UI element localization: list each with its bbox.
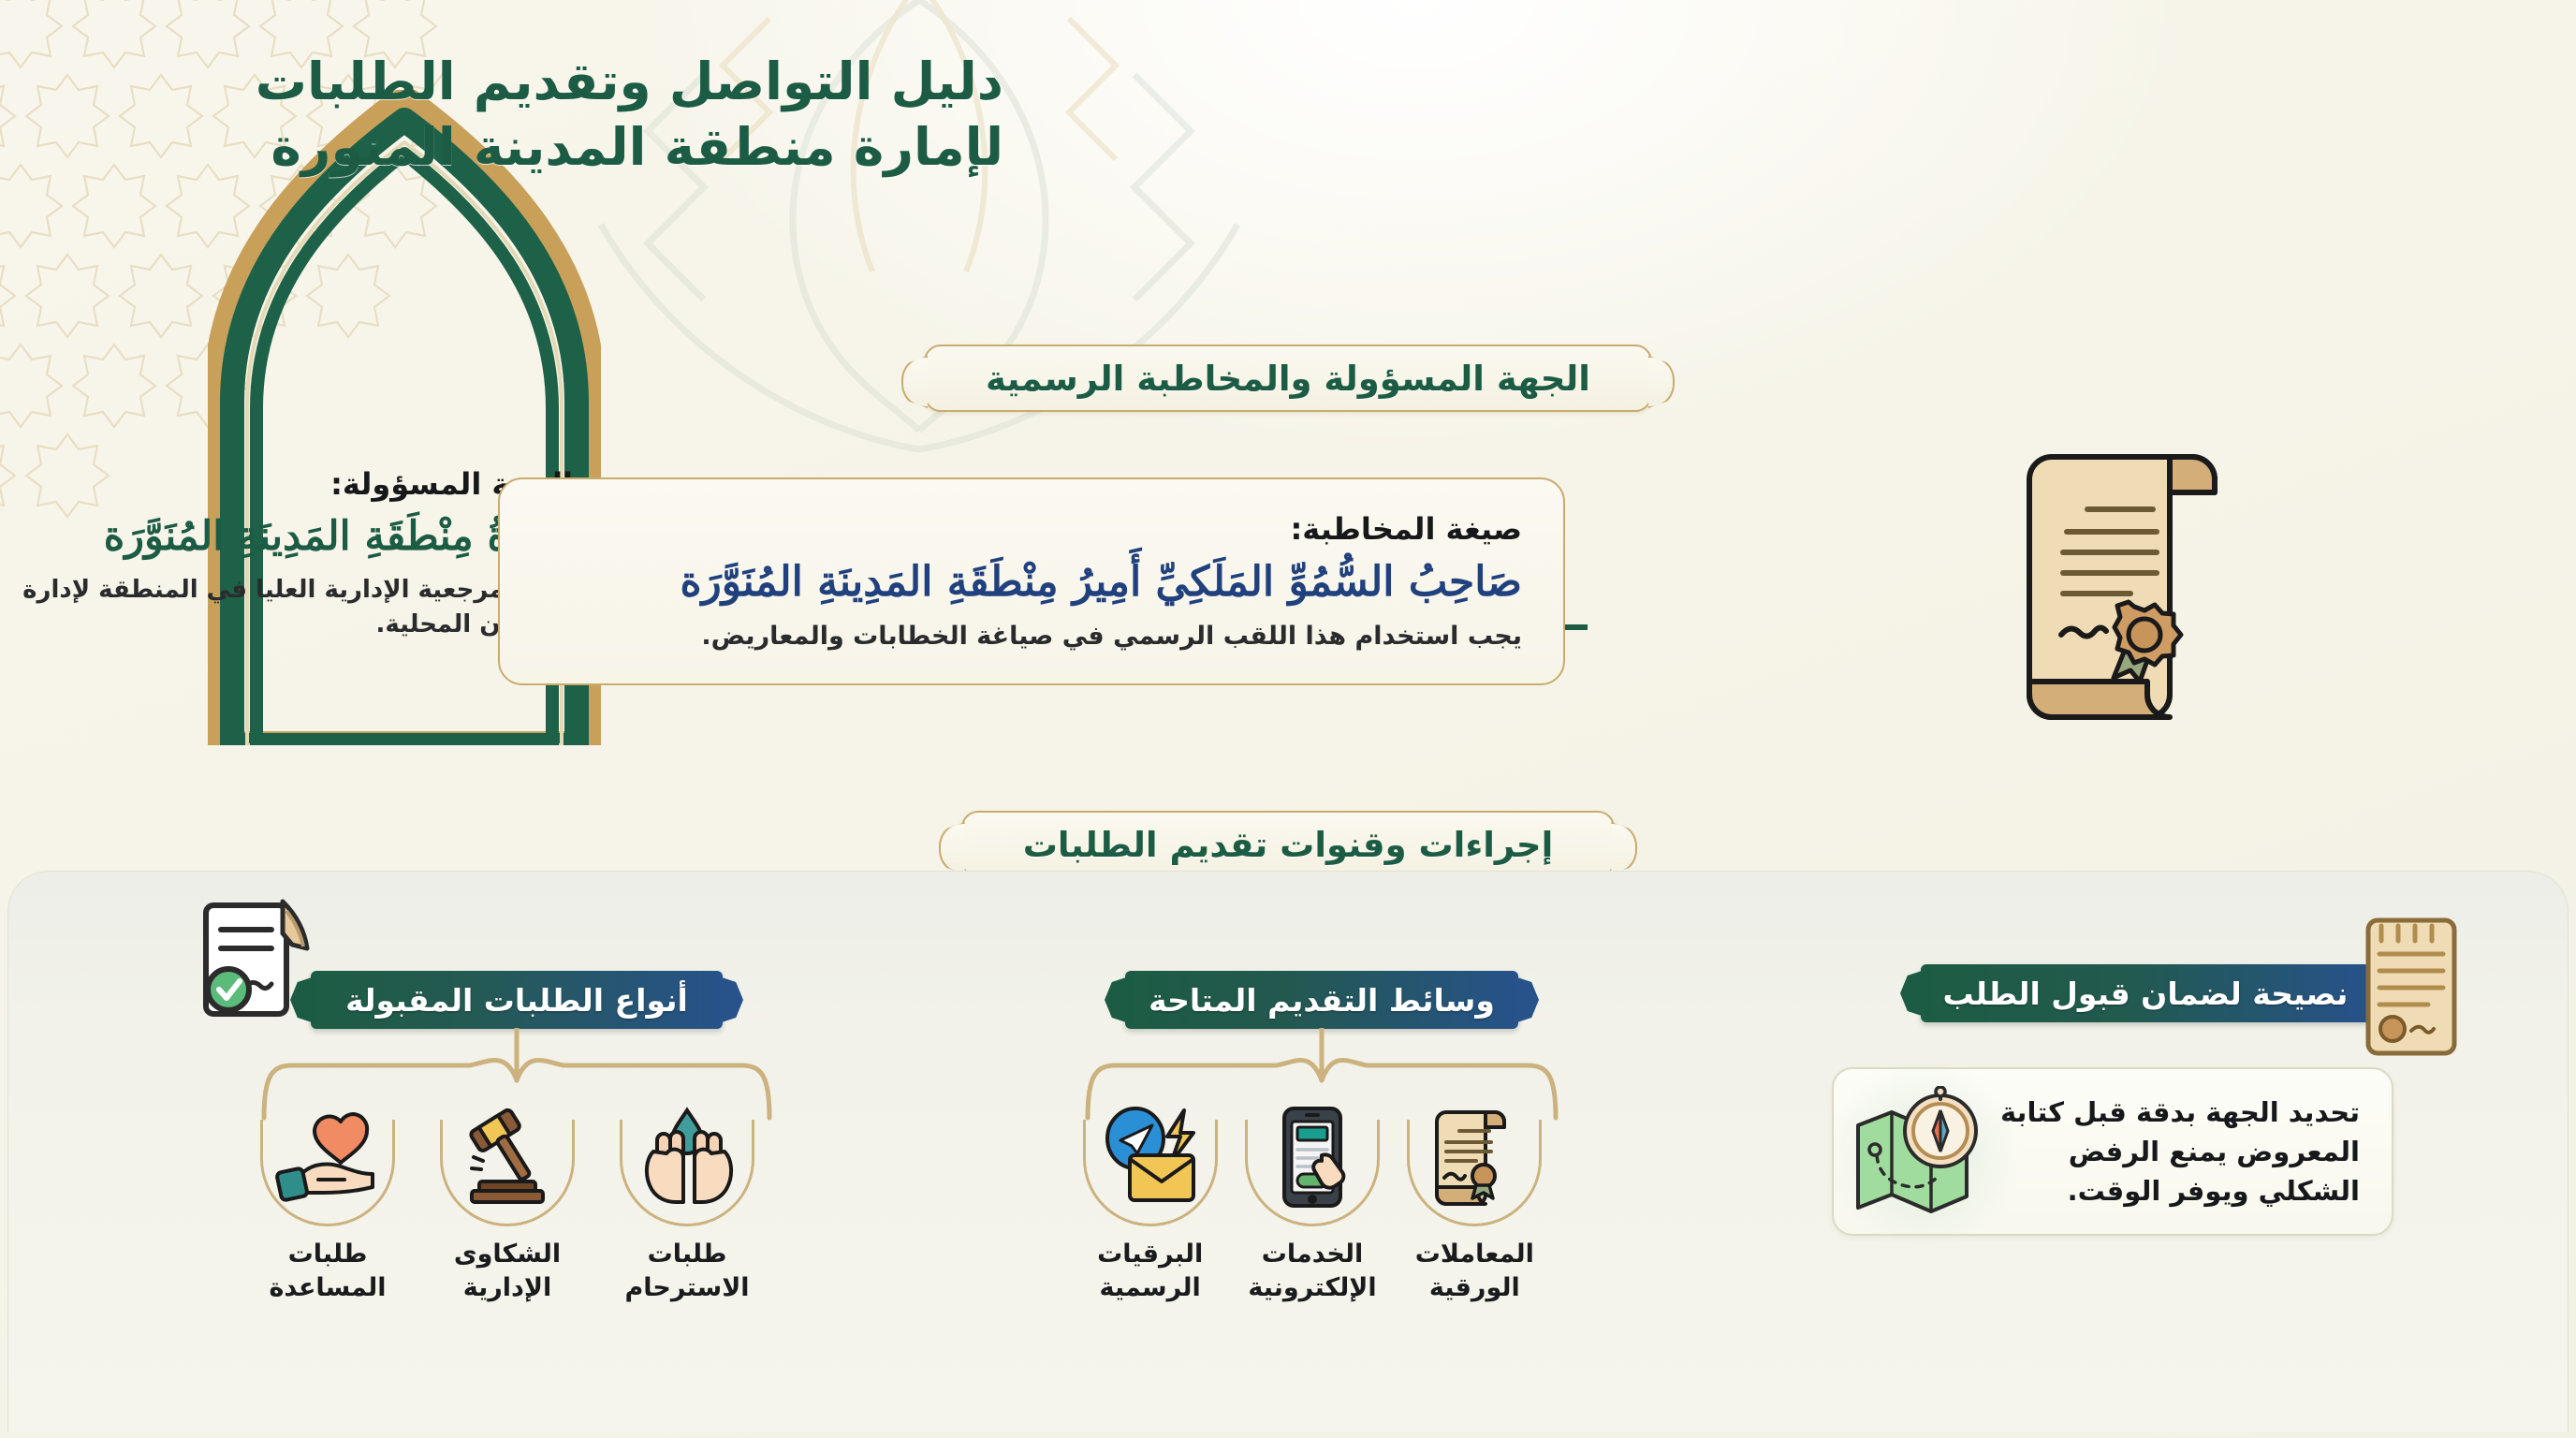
telegram-envelope-icon [1094, 1105, 1207, 1210]
gavel-icon [451, 1105, 563, 1210]
authority-card-label: الجهة المسؤولة: [0, 466, 573, 502]
channel-caption: البرقيات الرسمية [1069, 1238, 1231, 1304]
request-type-caption: الشكاوى الإدارية [425, 1238, 590, 1304]
channel-item: الخدمات الإلكترونية [1231, 1105, 1393, 1304]
banner-acceptance-tip[interactable]: نصيحة لضمان قبول الطلب [1921, 964, 2370, 1022]
address-format-card: صيغة المخاطبة: صَاحِبُ السُّمُوِّ المَلَ… [498, 477, 1565, 685]
icon-arc [253, 1105, 402, 1226]
section-1-heading-text: الجهة المسؤولة والمخاطبة الرسمية [986, 359, 1590, 399]
paper-document-icon [1418, 1105, 1530, 1210]
request-types-group: طلبات الاسترحام [245, 1105, 769, 1304]
banner-tip-label: نصيحة لضمان قبول الطلب [1943, 976, 2349, 1012]
section-header-procedures: إجراءات وقنوات تقديم الطلبات [0, 811, 2576, 878]
icon-arc [612, 1105, 762, 1226]
banner-channels-label: وسائط التقديم المتاحة [1149, 982, 1495, 1019]
address-card-label: صيغة المخاطبة: [541, 511, 1522, 547]
request-type-item: الشكاوى الإدارية [425, 1105, 590, 1304]
address-card-note: يجب استخدام هذا اللقب الرسمي في صياغة ال… [541, 619, 1522, 654]
request-type-caption: طلبات الاسترحام [605, 1238, 769, 1304]
smartphone-touch-icon [1256, 1105, 1368, 1210]
submission-channels-group: المعاملات الورقية [1069, 1105, 1556, 1304]
page-title: دليل التواصل وتقديم الطلبات لإمارة منطقة… [67, 49, 1003, 181]
banner-submission-channels[interactable]: وسائط التقديم المتاحة [1125, 971, 1518, 1029]
praying-hands-icon [631, 1105, 743, 1210]
icon-arc [1399, 1105, 1549, 1226]
channel-caption: الخدمات الإلكترونية [1231, 1238, 1393, 1304]
section-header-responsible-authority: الجهة المسؤولة والمخاطبة الرسمية [0, 345, 2576, 412]
channel-item: المعاملات الورقية [1394, 1105, 1556, 1304]
channel-item: البرقيات الرسمية [1069, 1105, 1231, 1304]
banner-request-types-label: أنواع الطلبات المقبولة [345, 982, 688, 1019]
map-compass-icon [1851, 1086, 1991, 1225]
acceptance-tip-box: تحديد الجهة بدقة قبل كتابة المعروض يمنع … [1832, 1067, 2393, 1236]
banner-request-types[interactable]: أنواع الطلبات المقبولة [311, 971, 723, 1029]
request-type-item: طلبات الاسترحام [605, 1105, 769, 1304]
ribbon-plate-2: إجراءات وقنوات تقديم الطلبات [961, 811, 1616, 878]
infographic-canvas: دليل التواصل وتقديم الطلبات لإمارة منطقة… [0, 0, 2576, 1438]
tip-scroll-icon [2351, 913, 2473, 1063]
heart-in-hand-icon [271, 1105, 384, 1210]
icon-arc [1237, 1105, 1387, 1226]
icon-arc [1076, 1105, 1225, 1226]
tip-text: تحديد الجهة بدقة قبل كتابة المعروض يمنع … [1995, 1093, 2360, 1211]
authority-card: الجهة المسؤولة: إِمَارَةُ مِنْطَقَةِ الم… [0, 466, 573, 642]
address-card-name: صَاحِبُ السُّمُوِّ المَلَكِيِّ أَمِيرُ م… [541, 554, 1522, 609]
request-type-item: طلبات المساعدة [245, 1105, 410, 1304]
official-scroll-icon [2014, 436, 2239, 736]
section-2-heading-text: إجراءات وقنوات تقديم الطلبات [1023, 825, 1554, 865]
icon-arc [432, 1105, 582, 1226]
ribbon-plate: الجهة المسؤولة والمخاطبة الرسمية [924, 345, 1652, 412]
channel-caption: المعاملات الورقية [1394, 1238, 1556, 1304]
title-line-1: دليل التواصل وتقديم الطلبات [67, 49, 1003, 114]
request-type-caption: طلبات المساعدة [245, 1238, 410, 1304]
title-line-2: لإمارة منطقة المدينة المنورة [67, 114, 1003, 180]
authority-card-name: إِمَارَةُ مِنْطَقَةِ المَدِينَةِ المُنَو… [0, 509, 573, 564]
authority-card-note: هي المرجعية الإدارية العليا في المنطقة ل… [0, 573, 573, 642]
